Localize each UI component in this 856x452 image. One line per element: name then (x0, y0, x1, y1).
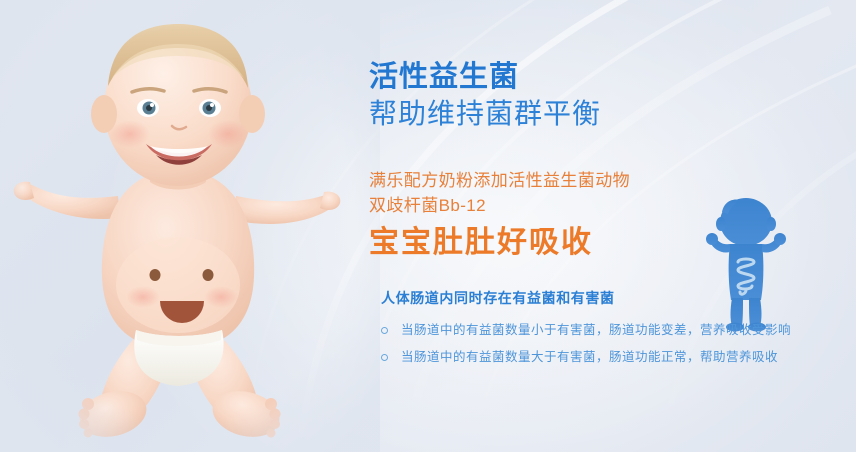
headline-primary: 活性益生菌 (369, 59, 601, 95)
list-item: 当肠道中的有益菌数量小于有害菌，肠道功能变差，营养吸收受影响 (381, 322, 851, 338)
headline-secondary: 帮助维持菌群平衡 (369, 95, 601, 133)
fact-text: 当肠道中的有益菌数量小于有害菌，肠道功能变差，营养吸收受影响 (401, 322, 791, 338)
facts-list: 当肠道中的有益菌数量小于有害菌，肠道功能变差，营养吸收受影响 当肠道中的有益菌数… (381, 322, 851, 365)
bullet-circle-icon (381, 354, 388, 361)
bullet-circle-icon (381, 327, 388, 334)
product-description-line-1: 满乐配方奶粉添加活性益生菌动物 (369, 168, 630, 193)
facts-block: 人体肠道内同时存在有益菌和有害菌 当肠道中的有益菌数量小于有害菌，肠道功能变差，… (381, 288, 851, 376)
product-benefit-emphasis: 宝宝肚肚好吸收 (369, 224, 630, 262)
headline-block: 活性益生菌 帮助维持菌群平衡 (369, 59, 601, 133)
fact-text: 当肠道中的有益菌数量大于有害菌，肠道功能正常，帮助营养吸收 (401, 349, 778, 365)
facts-title: 人体肠道内同时存在有益菌和有害菌 (381, 288, 851, 308)
baby-photo (0, 0, 380, 452)
content-column: 活性益生菌 帮助维持菌群平衡 满乐配方奶粉添加活性益生菌动物 双歧杆菌Bb-12… (365, 0, 856, 452)
probiotic-promo-banner: 活性益生菌 帮助维持菌群平衡 满乐配方奶粉添加活性益生菌动物 双歧杆菌Bb-12… (0, 0, 856, 452)
list-item: 当肠道中的有益菌数量大于有害菌，肠道功能正常，帮助营养吸收 (381, 349, 851, 365)
product-description-block: 满乐配方奶粉添加活性益生菌动物 双歧杆菌Bb-12 宝宝肚肚好吸收 (369, 168, 630, 262)
product-description-line-2: 双歧杆菌Bb-12 (369, 193, 630, 218)
